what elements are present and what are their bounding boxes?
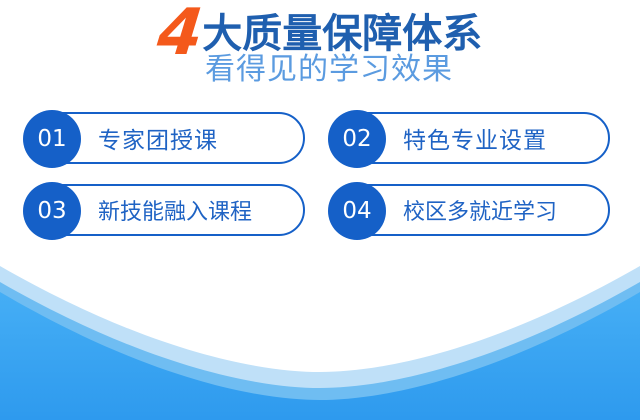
feature-label: 特色专业设置 bbox=[403, 121, 547, 155]
feature-item-03[interactable]: 03 新技能融入课程 bbox=[30, 184, 305, 236]
bottom-wave-decoration bbox=[0, 260, 640, 420]
poster-canvas: 4 大质量保障体系 看得见的学习效果 01 专家团授课 02 特色专业设置 03… bbox=[0, 0, 640, 420]
feature-label: 专家团授课 bbox=[98, 121, 218, 155]
feature-row-1: 01 专家团授课 02 特色专业设置 bbox=[0, 112, 640, 164]
feature-list: 01 专家团授课 02 特色专业设置 03 新技能融入课程 04 校区多就近学习 bbox=[0, 112, 640, 256]
feature-label: 新技能融入课程 bbox=[98, 194, 252, 226]
feature-item-04[interactable]: 04 校区多就近学习 bbox=[335, 184, 610, 236]
title-row: 4 大质量保障体系 bbox=[0, 0, 640, 58]
feature-row-2: 03 新技能融入课程 04 校区多就近学习 bbox=[0, 184, 640, 236]
wave-band-main bbox=[0, 292, 640, 420]
feature-item-02[interactable]: 02 特色专业设置 bbox=[335, 112, 610, 164]
feature-number-badge: 01 bbox=[23, 110, 81, 168]
feature-number-badge: 02 bbox=[328, 110, 386, 168]
header: 4 大质量保障体系 看得见的学习效果 bbox=[0, 0, 640, 100]
subtitle-row: 看得见的学习效果 bbox=[0, 52, 640, 88]
page-title: 大质量保障体系 bbox=[202, 12, 482, 56]
page-subtitle: 看得见的学习效果 bbox=[187, 52, 453, 88]
feature-item-01[interactable]: 01 专家团授课 bbox=[30, 112, 305, 164]
feature-label: 校区多就近学习 bbox=[403, 194, 557, 226]
feature-number-badge: 04 bbox=[328, 182, 386, 240]
feature-number-badge: 03 bbox=[23, 182, 81, 240]
